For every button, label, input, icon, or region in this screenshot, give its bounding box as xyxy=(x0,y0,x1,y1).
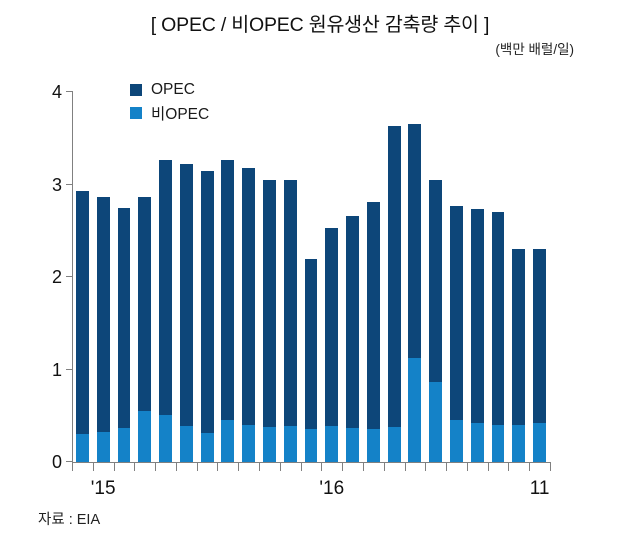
bar[interactable] xyxy=(221,160,234,462)
y-tick xyxy=(66,91,73,92)
bar-segment-non-opec xyxy=(367,429,380,462)
x-tick xyxy=(425,463,426,471)
y-tick-label: 0 xyxy=(32,453,62,471)
bar-segment-opec xyxy=(118,208,131,428)
bar[interactable] xyxy=(201,171,214,462)
bar-segment-non-opec xyxy=(118,428,131,462)
bar[interactable] xyxy=(512,249,525,462)
bar-segment-non-opec xyxy=(533,423,546,462)
bar-segment-opec xyxy=(408,124,421,358)
x-tick xyxy=(529,463,530,471)
x-tick xyxy=(342,463,343,471)
x-tick xyxy=(301,463,302,471)
x-tick xyxy=(405,463,406,471)
y-tick xyxy=(66,461,73,462)
x-tick-label: '15 xyxy=(91,478,116,500)
bar-segment-non-opec xyxy=(450,420,463,462)
x-tick xyxy=(363,463,364,471)
bar-segment-non-opec xyxy=(346,428,359,462)
x-tick-label: 11 xyxy=(530,478,550,500)
bar[interactable] xyxy=(325,228,338,462)
bar-segment-opec xyxy=(201,171,214,434)
source-note: 자료 : EIA xyxy=(38,508,100,529)
bar[interactable] xyxy=(533,249,546,462)
bar[interactable] xyxy=(450,206,463,462)
x-tick xyxy=(508,463,509,471)
x-tick xyxy=(384,463,385,471)
bar-segment-non-opec xyxy=(159,415,172,462)
x-tick xyxy=(280,463,281,471)
x-tick xyxy=(197,463,198,471)
x-tick xyxy=(259,463,260,471)
x-tick xyxy=(467,463,468,471)
bar-segment-non-opec xyxy=(284,426,297,462)
bar[interactable] xyxy=(263,180,276,462)
plot-area: 01234 '15'1611 xyxy=(72,92,550,462)
bar-segment-non-opec xyxy=(180,426,193,462)
y-axis-line xyxy=(72,92,73,463)
bar[interactable] xyxy=(159,160,172,462)
y-tick-label: 3 xyxy=(32,176,62,194)
bar[interactable] xyxy=(305,259,318,462)
bar-segment-opec xyxy=(159,160,172,415)
bar[interactable] xyxy=(471,209,484,462)
x-tick xyxy=(446,463,447,471)
bar-segment-opec xyxy=(221,160,234,421)
bar[interactable] xyxy=(138,197,151,462)
x-tick xyxy=(114,463,115,471)
bar-segment-opec xyxy=(97,197,110,433)
bar[interactable] xyxy=(408,124,421,462)
bar[interactable] xyxy=(388,126,401,462)
bar-segment-non-opec xyxy=(325,426,338,462)
x-tick xyxy=(321,463,322,471)
chart-unit-label: (백만 배럴/일) xyxy=(495,38,574,58)
bar-segment-opec xyxy=(512,249,525,425)
bar-segment-non-opec xyxy=(492,425,505,462)
bar[interactable] xyxy=(97,197,110,462)
x-tick xyxy=(238,463,239,471)
bar-segment-non-opec xyxy=(221,420,234,462)
bar[interactable] xyxy=(429,180,442,462)
bar[interactable] xyxy=(367,202,380,462)
bar-segment-opec xyxy=(533,249,546,423)
bar-segment-opec xyxy=(284,180,297,426)
bar-segment-non-opec xyxy=(242,425,255,462)
x-tick xyxy=(550,463,551,471)
bar-segment-non-opec xyxy=(471,423,484,462)
bar-segment-opec xyxy=(138,197,151,412)
bar-segment-opec xyxy=(180,164,193,426)
bar-segment-non-opec xyxy=(388,427,401,462)
bar-segment-opec xyxy=(367,202,380,429)
bar-segment-non-opec xyxy=(263,427,276,462)
x-tick xyxy=(134,463,135,471)
bar[interactable] xyxy=(118,208,131,462)
x-tick xyxy=(93,463,94,471)
bar-segment-non-opec xyxy=(305,429,318,462)
x-tick-label: '16 xyxy=(319,478,344,500)
y-tick-label: 1 xyxy=(32,361,62,379)
bar-segment-opec xyxy=(492,212,505,425)
bar-segment-non-opec xyxy=(201,433,214,462)
y-tick xyxy=(66,369,73,370)
bar-segment-opec xyxy=(305,259,318,428)
bar[interactable] xyxy=(284,180,297,462)
bar-segment-opec xyxy=(429,180,442,383)
bar-segment-opec xyxy=(325,228,338,426)
bar-segment-non-opec xyxy=(76,434,89,462)
bar-segment-opec xyxy=(346,216,359,428)
bar[interactable] xyxy=(180,164,193,462)
x-tick xyxy=(72,463,73,471)
bar-segment-opec xyxy=(242,168,255,425)
y-tick-label: 2 xyxy=(32,268,62,286)
bar[interactable] xyxy=(242,168,255,462)
x-axis-line xyxy=(72,462,551,463)
bar[interactable] xyxy=(492,212,505,462)
x-tick xyxy=(176,463,177,471)
bar[interactable] xyxy=(346,216,359,462)
y-tick-label: 4 xyxy=(32,83,62,101)
y-tick xyxy=(66,184,73,185)
bar-segment-opec xyxy=(76,191,89,434)
bar-segment-non-opec xyxy=(512,425,525,462)
bar-segment-opec xyxy=(450,206,463,421)
bar-segment-non-opec xyxy=(97,432,110,462)
bar-segment-non-opec xyxy=(138,411,151,462)
chart-title: [ OPEC / 비OPEC 원유생산 감축량 추이 ] xyxy=(0,8,640,37)
bar[interactable] xyxy=(76,191,89,462)
bar-segment-non-opec xyxy=(408,358,421,462)
bar-segment-opec xyxy=(388,126,401,427)
bar-segment-opec xyxy=(471,209,484,424)
x-tick xyxy=(217,463,218,471)
x-tick xyxy=(488,463,489,471)
bar-segment-non-opec xyxy=(429,382,442,462)
bar-segment-opec xyxy=(263,180,276,427)
chart-figure: [ OPEC / 비OPEC 원유생산 감축량 추이 ] (백만 배럴/일) O… xyxy=(0,0,640,548)
x-tick xyxy=(155,463,156,471)
y-tick xyxy=(66,276,73,277)
